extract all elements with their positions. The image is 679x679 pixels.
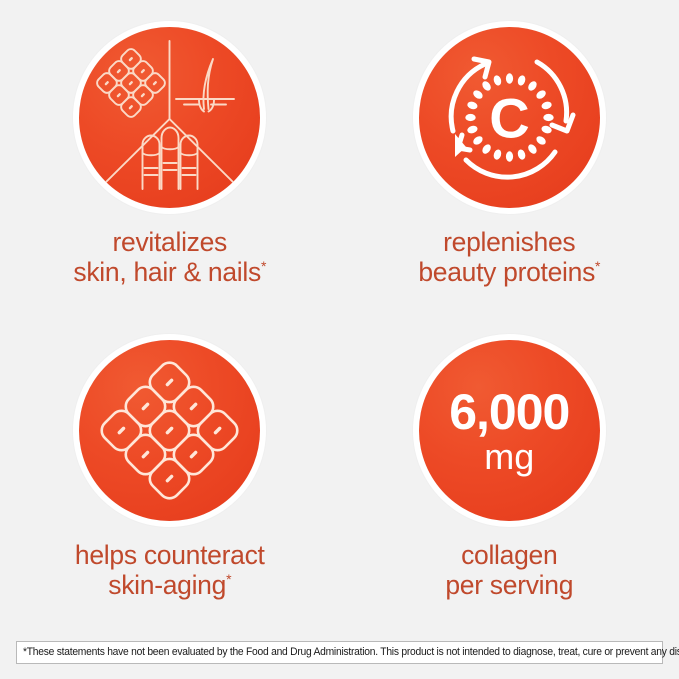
feature-cell-dosage: 6,000 mg collagen per serving <box>340 310 679 620</box>
badge-skin-aging <box>79 340 260 521</box>
caption-replenishes: replenishes beauty proteins* <box>418 228 600 287</box>
feature-grid: revitalizes skin, hair & nails* <box>0 0 679 620</box>
caption-skin-aging: helps counteract skin-aging* <box>75 541 265 600</box>
collagen-cycle-icon: C <box>419 27 600 208</box>
dosage-number: 6,000 <box>449 387 569 437</box>
footnote-marker: * <box>261 258 266 274</box>
fda-disclaimer-box: *These statements have not been evaluate… <box>16 641 663 664</box>
feature-cell-replenishes: C replenishes beauty proteins* <box>340 0 679 310</box>
caption-line-1: helps counteract <box>75 540 265 570</box>
caption-line-2: per serving <box>445 570 573 600</box>
caption-revitalizes: revitalizes skin, hair & nails* <box>73 228 266 287</box>
feature-cell-skin-aging: helps counteract skin-aging* <box>0 310 340 620</box>
feature-cell-revitalizes: revitalizes skin, hair & nails* <box>0 0 340 310</box>
footnote-marker: * <box>226 571 231 587</box>
caption-line-1: replenishes <box>443 227 575 257</box>
badge-replenishes: C <box>419 27 600 208</box>
caption-dosage: collagen per serving <box>445 541 573 600</box>
caption-line-2: skin-aging <box>108 570 226 600</box>
dosage-amount: 6,000 mg <box>449 387 569 475</box>
caption-line-2: skin, hair & nails <box>73 257 261 287</box>
dosage-unit: mg <box>449 439 569 475</box>
footnote-marker: * <box>595 258 600 274</box>
badge-dosage: 6,000 mg <box>419 340 600 521</box>
product-benefits-infographic: revitalizes skin, hair & nails* <box>0 0 679 679</box>
fda-disclaimer-text: *These statements have not been evaluate… <box>23 647 679 659</box>
caption-line-2: beauty proteins <box>418 257 595 287</box>
skin-hair-nails-icon <box>79 27 260 208</box>
caption-line-1: collagen <box>461 540 557 570</box>
badge-revitalizes <box>79 27 260 208</box>
caption-line-1: revitalizes <box>112 227 227 257</box>
letter-c: C <box>489 87 529 150</box>
skin-cells-diamond-icon <box>79 340 260 521</box>
